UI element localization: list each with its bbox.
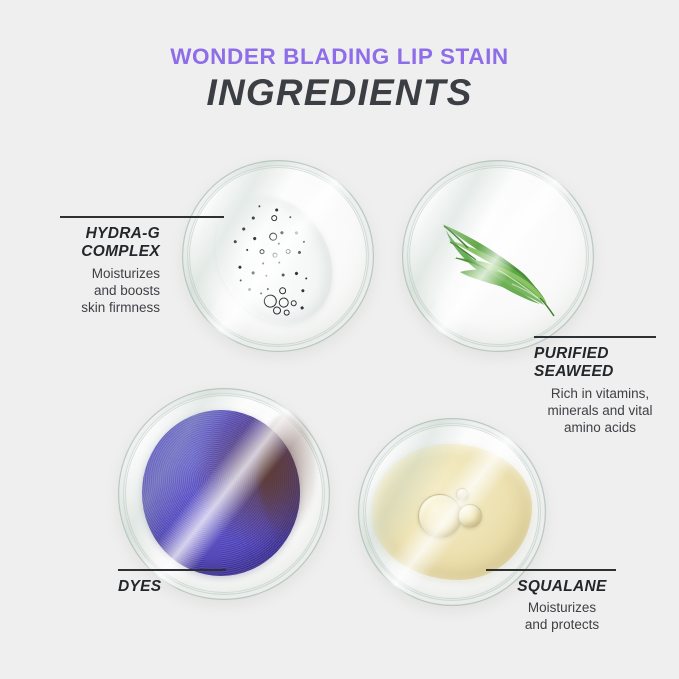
seaweed-graphic (420, 200, 580, 320)
brand-title: WONDER BLADING LIP STAIN (0, 44, 679, 70)
callout-desc-seaweed: Rich in vitamins, minerals and vital ami… (534, 385, 666, 436)
oil-drop-small (456, 488, 469, 501)
page-title: INGREDIENTS (0, 72, 679, 114)
callout-title-squalane: SQUALANE (486, 578, 626, 596)
oil-drop-large (418, 494, 462, 538)
callout-desc-hydra-g: Moisturizes and boosts skin firmness (28, 265, 160, 316)
callout-title-dyes: DYES (118, 578, 238, 596)
ingredients-infographic: WONDER BLADING LIP STAIN INGREDIENTS (0, 0, 679, 679)
callout-rule-seaweed (534, 336, 656, 338)
callout-purified-seaweed: PURIFIED SEAWEED Rich in vitamins, miner… (534, 345, 666, 436)
oil-drop-medium (458, 504, 482, 528)
callout-hydra-g-complex: HYDRA-G COMPLEX Moisturizes and boosts s… (28, 225, 160, 316)
callout-title-hydra-g: HYDRA-G COMPLEX (28, 225, 160, 262)
callout-desc-squalane: Moisturizes and protects (486, 599, 626, 633)
callout-rule-hydra-g (60, 216, 224, 218)
gel-blob-graphic (192, 174, 357, 347)
powder-shadow-edge (258, 414, 316, 534)
callout-squalane: SQUALANE Moisturizes and protects (486, 578, 626, 633)
hydra-gel-dish (182, 160, 374, 352)
callout-rule-squalane (486, 569, 616, 571)
callout-title-seaweed: PURIFIED SEAWEED (534, 345, 666, 382)
seaweed-dish (402, 160, 594, 352)
callout-dyes: DYES (118, 578, 238, 599)
callout-rule-dyes (118, 569, 226, 571)
